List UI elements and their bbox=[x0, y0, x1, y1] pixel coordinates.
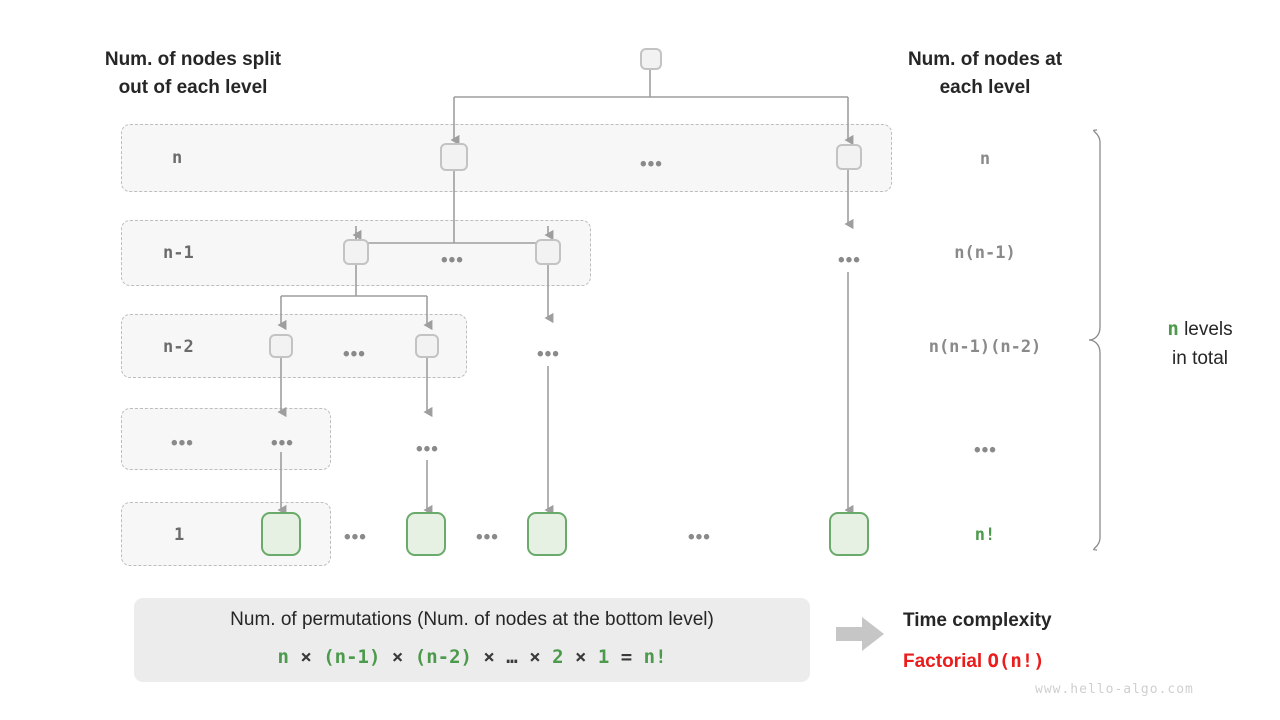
formula-token-0: n bbox=[277, 646, 288, 668]
levels-in-total-note: n levels in total bbox=[1130, 315, 1270, 373]
tree-node-leaf-b bbox=[406, 512, 446, 556]
time-complexity-title: Time complexity bbox=[903, 610, 1052, 632]
leaf-dots-3: ••• bbox=[688, 528, 711, 547]
level-band-4 bbox=[121, 408, 331, 470]
formula-token-10: 1 bbox=[598, 646, 609, 668]
leaf-dots-1: ••• bbox=[344, 528, 367, 547]
formula-token-3: × bbox=[380, 646, 414, 668]
leaf-dots-2: ••• bbox=[476, 528, 499, 547]
tree-node-l3-a bbox=[269, 334, 293, 358]
formula-token-2: (n-1) bbox=[323, 646, 380, 668]
formula-token-12: n! bbox=[644, 646, 667, 668]
count-label-level-5: n! bbox=[905, 525, 1065, 545]
right-arrow-icon bbox=[836, 617, 884, 651]
split-label-level-1: n bbox=[172, 148, 182, 168]
tree-node-l3-b bbox=[415, 334, 439, 358]
heading-left: Num. of nodes split out of each level bbox=[62, 46, 324, 101]
watermark: www.hello-algo.com bbox=[1035, 682, 1194, 697]
tree-node-leaf-c bbox=[527, 512, 567, 556]
tree-dots-col-d-l2: ••• bbox=[838, 251, 861, 270]
heading-right: Num. of nodes at each level bbox=[862, 46, 1108, 101]
formula-token-6: … bbox=[506, 646, 517, 668]
summary-caption: Num. of permutations (Num. of nodes at t… bbox=[134, 609, 810, 631]
split-label-level-2: n-1 bbox=[163, 243, 194, 263]
split-label-level-3: n-2 bbox=[163, 337, 194, 357]
formula-token-11: = bbox=[609, 646, 643, 668]
tree-node-l2-a bbox=[343, 239, 369, 265]
count-label-level-1: n bbox=[905, 149, 1065, 169]
summary-box: Num. of permutations (Num. of nodes at t… bbox=[134, 598, 810, 682]
count-label-level-4: ••• bbox=[974, 441, 997, 460]
diagram-canvas: Num. of nodes split out of each level Nu… bbox=[0, 0, 1280, 720]
tree-dots-l4-node: ••• bbox=[271, 434, 294, 453]
formula-token-5: × bbox=[472, 646, 506, 668]
time-complexity-value: Factorial O(n!) bbox=[903, 650, 1045, 673]
count-label-level-3: n(n-1)(n-2) bbox=[905, 337, 1065, 357]
tree-node-l1-a bbox=[440, 143, 468, 171]
tree-dots-col-c-l3: ••• bbox=[537, 345, 560, 364]
level-band-1 bbox=[121, 124, 892, 192]
time-complexity-notation: O(n!) bbox=[987, 650, 1044, 672]
tree-node-leaf-a bbox=[261, 512, 301, 556]
split-label-level-5: 1 bbox=[174, 525, 184, 545]
tree-dots-l2-mid: ••• bbox=[441, 251, 464, 270]
levels-note-line1: levels bbox=[1179, 319, 1233, 340]
tree-dots-l3-mid: ••• bbox=[343, 345, 366, 364]
formula-token-8: 2 bbox=[552, 646, 563, 668]
levels-note-line2: in total bbox=[1172, 348, 1228, 369]
formula-token-7: × bbox=[518, 646, 552, 668]
tree-node-l2-b bbox=[535, 239, 561, 265]
tree-node-leaf-d bbox=[829, 512, 869, 556]
formula-token-4: (n-2) bbox=[415, 646, 472, 668]
levels-count-symbol: n bbox=[1167, 318, 1178, 340]
count-label-level-2: n(n-1) bbox=[905, 243, 1065, 263]
tree-dots-col-b-l4: ••• bbox=[416, 440, 439, 459]
summary-formula: n × (n-1) × (n-2) × … × 2 × 1 = n! bbox=[134, 646, 810, 668]
split-label-level-4: ••• bbox=[171, 434, 194, 453]
tree-dots-l1-mid: ••• bbox=[640, 155, 663, 174]
formula-token-9: × bbox=[564, 646, 598, 668]
tree-node-root bbox=[640, 48, 662, 70]
levels-brace bbox=[1089, 130, 1100, 550]
formula-token-1: × bbox=[289, 646, 323, 668]
time-complexity-name: Factorial bbox=[903, 651, 982, 672]
tree-node-l1-b bbox=[836, 144, 862, 170]
